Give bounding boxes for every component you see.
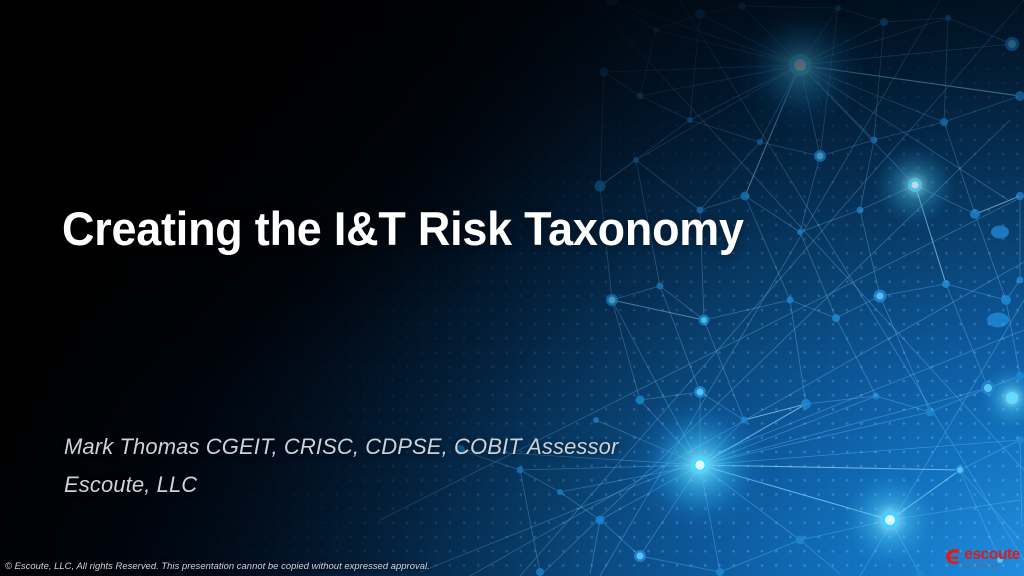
logo-wordmark: escoute — [964, 547, 1020, 563]
slide-title: Creating the I&T Risk Taxonomy — [62, 203, 883, 256]
logo-tagline: consulting — [964, 564, 1020, 568]
subtitle-line-company: Escoute, LLC — [64, 466, 764, 504]
escoute-swoosh-icon — [945, 548, 962, 569]
slide-subtitle: Mark Thomas CGEIT, CRISC, CDPSE, COBIT A… — [64, 428, 764, 504]
title-slide: Creating the I&T Risk Taxonomy Mark Thom… — [0, 0, 1024, 576]
copyright-footer: © Escoute, LLC, All rights Reserved. Thi… — [5, 560, 430, 571]
escoute-logo: escoute consulting — [945, 543, 1020, 573]
subtitle-line-presenter: Mark Thomas CGEIT, CRISC, CDPSE, COBIT A… — [64, 428, 764, 466]
